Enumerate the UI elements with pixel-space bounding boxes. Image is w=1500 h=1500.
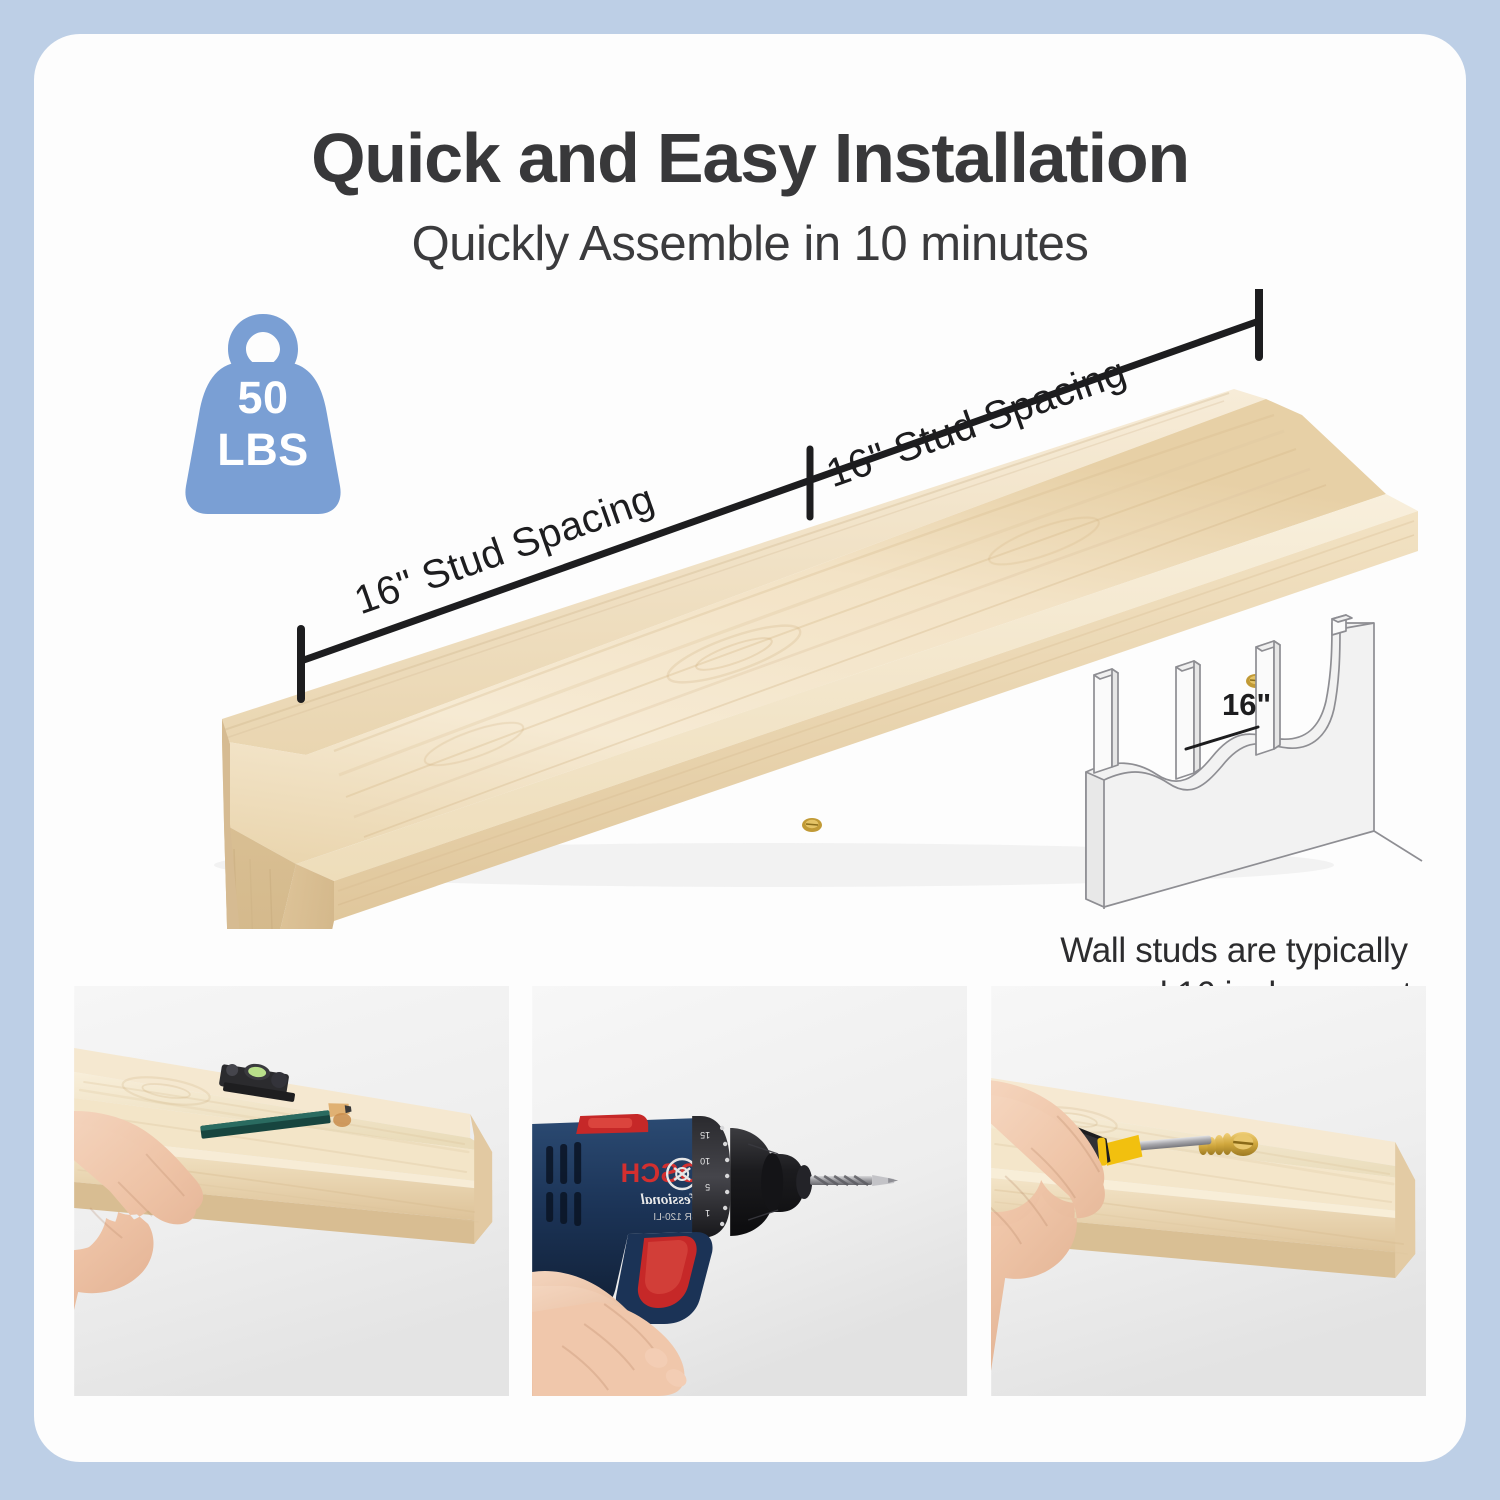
wall-stud-diagram: 16" xyxy=(1044,609,1444,929)
step-photo-drive-screw[interactable] xyxy=(991,986,1426,1396)
step-photo-drill-hole[interactable]: BOSCH Professional GSR 120-LI 15 10 xyxy=(532,986,967,1396)
weight-capacity-badge: 50 LBS xyxy=(182,310,344,518)
weight-value: 50 xyxy=(182,372,344,424)
stud-dimension-label: 16" xyxy=(1222,687,1271,723)
step-photo-mark-level[interactable] xyxy=(74,986,509,1396)
content-card: Quick and Easy Installation Quickly Asse… xyxy=(34,34,1466,1462)
infographic-page: Quick and Easy Installation Quickly Asse… xyxy=(0,0,1500,1500)
weight-badge-text: 50 LBS xyxy=(182,372,344,476)
svg-text:15: 15 xyxy=(700,1130,710,1140)
installation-steps-gallery: BOSCH Professional GSR 120-LI 15 10 xyxy=(74,986,1426,1396)
svg-text:1: 1 xyxy=(705,1208,710,1218)
screw-middle xyxy=(802,818,822,832)
svg-text:10: 10 xyxy=(700,1156,710,1166)
page-title: Quick and Easy Installation xyxy=(34,118,1466,198)
svg-text:5: 5 xyxy=(705,1182,710,1192)
weight-unit: LBS xyxy=(182,424,344,476)
page-subtitle: Quickly Assemble in 10 minutes xyxy=(34,216,1466,272)
